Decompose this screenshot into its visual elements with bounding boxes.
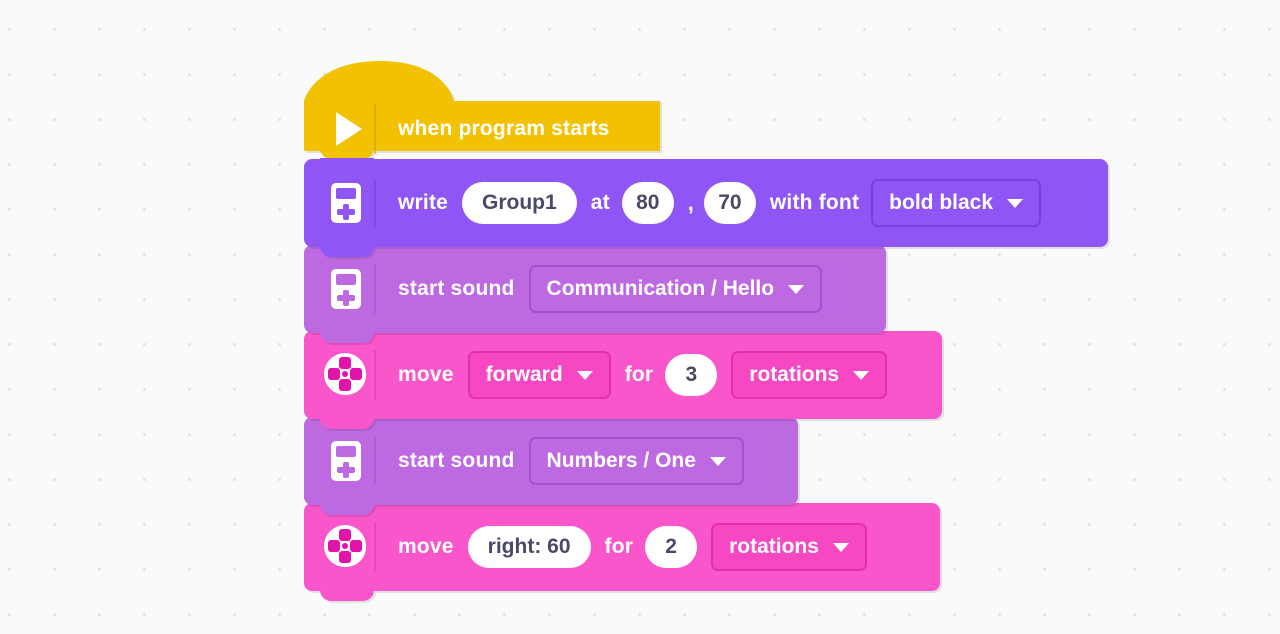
hub-icon [318, 269, 374, 309]
block-start-sound-hello-body[interactable]: start sound Communication / Hello [304, 245, 886, 333]
icon-divider [374, 264, 376, 314]
play-icon [318, 112, 374, 146]
block-bottom-plug [320, 331, 374, 343]
block-label-move: move [398, 363, 454, 387]
move-direction-dropdown[interactable]: forward [468, 351, 611, 399]
block-label-start-sound: start sound [398, 277, 515, 301]
block-when-program-starts[interactable]: when program starts [304, 59, 660, 159]
chevron-down-icon [833, 543, 849, 552]
hub-icon [318, 183, 374, 223]
block-top-notch [320, 158, 374, 169]
hub-icon [318, 441, 374, 481]
block-label-start-sound: start sound [398, 449, 515, 473]
block-bottom-plug [320, 417, 374, 429]
block-move-right-body[interactable]: move right: 60 for 2 rotations [304, 503, 940, 591]
block-start-sound-one-body[interactable]: start sound Numbers / One [304, 417, 798, 505]
chevron-down-icon [577, 371, 593, 380]
write-at-label: at [591, 191, 610, 215]
block-move-forward-body[interactable]: move forward for 3 rotations [304, 331, 942, 419]
icon-divider [374, 350, 376, 400]
movement-icon [318, 524, 374, 570]
chevron-down-icon [710, 457, 726, 466]
start-sound-value: Communication / Hello [547, 277, 775, 301]
write-text-input[interactable]: Group1 [462, 182, 577, 224]
move-unit-dropdown[interactable]: rotations [711, 523, 867, 571]
move-for-label: for [605, 535, 634, 559]
move-unit-value: rotations [729, 535, 819, 559]
block-label-move: move [398, 535, 454, 559]
write-x-input[interactable]: 80 [622, 182, 674, 224]
chevron-down-icon [853, 371, 869, 380]
move-amount-input[interactable]: 3 [665, 354, 717, 396]
block-move-forward[interactable]: move forward for 3 rotations [304, 331, 1108, 419]
write-with-font-label: with font [770, 191, 859, 215]
write-comma-separator: , [688, 190, 694, 216]
chevron-down-icon [788, 285, 804, 294]
block-label-when-program-starts: when program starts [398, 117, 610, 141]
write-font-dropdown[interactable]: bold black [871, 179, 1041, 227]
block-write[interactable]: write Group1 at 80 , 70 with font bold b… [304, 159, 1108, 247]
icon-divider [374, 178, 376, 228]
icon-divider [374, 104, 376, 154]
move-direction-value: forward [486, 363, 563, 387]
movement-icon [318, 352, 374, 398]
chevron-down-icon [1007, 199, 1023, 208]
move-unit-dropdown[interactable]: rotations [731, 351, 887, 399]
block-bottom-plug [320, 589, 374, 601]
move-amount-input[interactable]: 2 [645, 526, 697, 568]
start-sound-dropdown[interactable]: Numbers / One [529, 437, 744, 485]
icon-divider [374, 436, 376, 486]
program-canvas[interactable]: when program starts write Group1 at 80 , [0, 0, 1280, 634]
write-y-input[interactable]: 70 [704, 182, 756, 224]
write-font-value: bold black [889, 191, 993, 215]
move-for-label: for [625, 363, 654, 387]
move-direction-input[interactable]: right: 60 [468, 526, 591, 568]
block-label-write: write [398, 191, 448, 215]
start-sound-value: Numbers / One [547, 449, 696, 473]
start-sound-dropdown[interactable]: Communication / Hello [529, 265, 823, 313]
block-move-right[interactable]: move right: 60 for 2 rotations [304, 503, 1108, 591]
block-stack[interactable]: when program starts write Group1 at 80 , [304, 59, 1108, 591]
block-bottom-plug [320, 503, 374, 515]
block-start-sound-hello[interactable]: start sound Communication / Hello [304, 245, 1108, 333]
icon-divider [374, 522, 376, 572]
block-write-body[interactable]: write Group1 at 80 , 70 with font bold b… [304, 159, 1108, 247]
block-bottom-plug [320, 245, 374, 257]
move-unit-value: rotations [749, 363, 839, 387]
block-start-sound-one[interactable]: start sound Numbers / One [304, 417, 1108, 505]
